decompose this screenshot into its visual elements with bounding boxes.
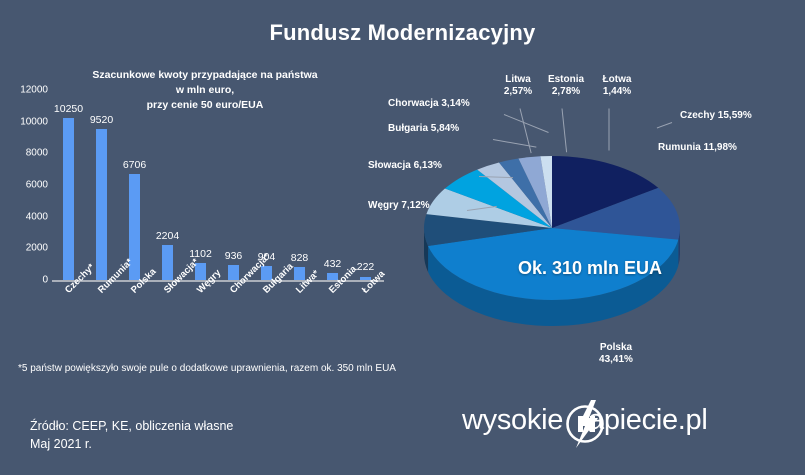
pie-label-line: Chorwacja 3,14% [388, 98, 508, 110]
bar-chart-panel: Szacunkowe kwoty przypadające na państwa… [0, 60, 400, 360]
y-axis-tick-label: 2000 [2, 243, 48, 254]
bar-value-label: 10250 [46, 103, 92, 115]
bar-słowacja[interactable] [162, 245, 173, 280]
y-axis-tick-label: 10000 [2, 116, 48, 127]
pie-label-line: Węgry 7,12% [368, 200, 468, 212]
bar-subtitle-line-1: Szacunkowe kwoty przypadające na państwa [60, 68, 350, 83]
pie-label-wegry: Węgry 7,12% [368, 200, 468, 212]
pie-label-line: Rumunia 11,98% [658, 142, 774, 154]
bar-rumunia[interactable] [96, 129, 107, 280]
bar-value-label: 2204 [145, 230, 191, 242]
pie-label-line: 2,78% [540, 86, 592, 98]
footnote: *5 państw powiększyło swoje pule o dodat… [18, 363, 396, 374]
bar-value-label: 6706 [112, 159, 158, 171]
pie-label-lotwa: Łotwa1,44% [593, 74, 641, 98]
pie-label-rumunia: Rumunia 11,98% [658, 142, 774, 154]
pie-label-line: Słowacja 6,13% [368, 160, 480, 172]
pie-label-line: Łotwa [593, 74, 641, 86]
source-line-1: Źródło: CEEP, KE, obliczenia własne [30, 417, 233, 435]
pie-chart-panel: Ok. 310 mln EUA Chorwacja 3,14%Bułgaria … [400, 60, 805, 380]
bar-chart-plot-area: 102509520670622041102936904828432222 [52, 90, 382, 280]
pie-label-line: Estonia [540, 74, 592, 86]
bar-czechy[interactable] [63, 118, 74, 280]
source-line-2: Maj 2021 r. [30, 435, 233, 453]
pie-label-line: Polska [586, 342, 646, 354]
pie-label-polska: Polska43,41% [586, 342, 646, 366]
pie-label-line: 2,57% [495, 86, 541, 98]
pie-label-bulgaria: Bułgaria 5,84% [388, 123, 496, 135]
pie-label-line: Litwa [495, 74, 541, 86]
y-axis-tick-label: 6000 [2, 180, 48, 191]
logo-text-part-1: wysokie [462, 404, 563, 437]
pie-label-slowacja: Słowacja 6,13% [368, 160, 480, 172]
page-title: Fundusz Modernizacyjny [0, 20, 805, 46]
pie-label-line: 43,41% [586, 354, 646, 366]
pie-label-chorwacja: Chorwacja 3,14% [388, 98, 508, 110]
y-axis-tick-label: 0 [2, 275, 48, 286]
site-logo[interactable]: wysokie apiecie.pl [462, 400, 782, 448]
lightning-n-icon [558, 400, 612, 448]
y-axis-tick-label: 12000 [2, 85, 48, 96]
pie-center-label: Ok. 310 mln EUA [518, 258, 662, 279]
pie-label-line: 1,44% [593, 86, 641, 98]
pie-label-estonia: Estonia2,78% [540, 74, 592, 98]
pie-chart-graphic: Ok. 310 mln EUA [420, 120, 690, 350]
source-block: Źródło: CEEP, KE, obliczenia własne Maj … [30, 417, 233, 453]
pie-chart-svg [420, 120, 690, 350]
pie-label-litwa: Litwa2,57% [495, 74, 541, 98]
pie-label-line: Czechy 15,59% [680, 110, 790, 122]
pie-leader-line [609, 109, 610, 151]
pie-label-czechy: Czechy 15,59% [680, 110, 790, 122]
infographic-canvas: Fundusz Modernizacyjny Szacunkowe kwoty … [0, 0, 805, 475]
y-axis-tick-label: 8000 [2, 148, 48, 159]
bar-chart-y-axis: 020004000600080001000012000 [0, 90, 48, 280]
pie-label-line: Bułgaria 5,84% [388, 123, 496, 135]
bar-value-label: 9520 [79, 114, 125, 126]
y-axis-tick-label: 4000 [2, 211, 48, 222]
